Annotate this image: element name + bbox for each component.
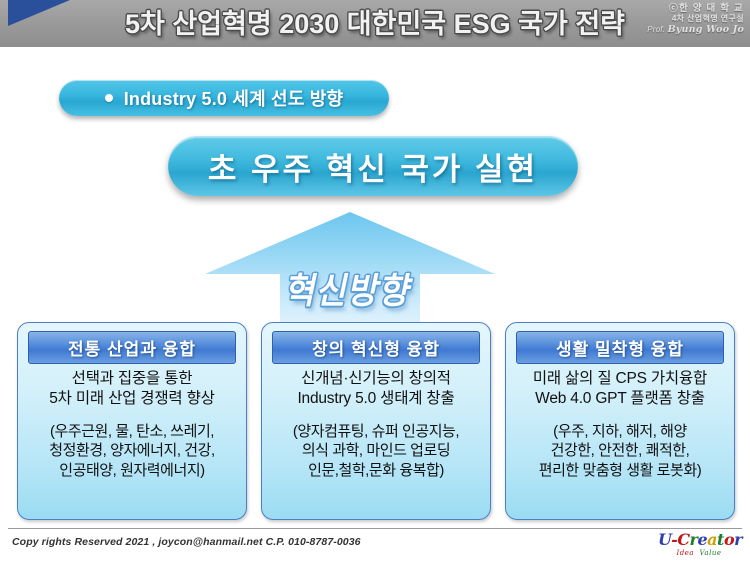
strategy-box-body: 미래 삶의 질 CPS 가치융합 Web 4.0 GPT 플랫폼 창출 (우주,… xyxy=(506,364,734,480)
strategy-box[interactable]: 전통 산업과 융합 선택과 집중을 통한 5차 미래 산업 경쟁력 향상 (우주… xyxy=(17,322,247,520)
strategy-box-body: 신개념·신기능의 창의적 Industry 5.0 생태계 창출 (양자컴퓨팅,… xyxy=(262,364,490,480)
strategy-box-detail: (우주, 지하, 해저, 해양 건강한, 안전한, 쾌적한, 편리한 맞춤형 생… xyxy=(510,422,730,481)
credit-lab: 4차 산업혁명 연구실 xyxy=(639,14,744,23)
credit-university-text: 한 양 대 학 교 xyxy=(679,3,744,14)
footer-divider xyxy=(8,528,742,529)
logo-sub-value: Value xyxy=(700,549,722,557)
logo-char-t: t xyxy=(717,530,724,549)
strategy-box-title: 생활 밀착형 융합 xyxy=(556,335,684,360)
strategy-box-lead: 선택과 집중을 통한 5차 미래 산업 경쟁력 향상 xyxy=(22,369,242,409)
strategy-box-title: 창의 혁신형 융합 xyxy=(312,335,440,360)
page-title: 5차 산업혁명 2030 대한민국 ESG 국가 전략 xyxy=(0,2,750,41)
strategy-box-lead: 신개념·신기능의 창의적 Industry 5.0 생태계 창출 xyxy=(266,369,486,409)
innovation-direction-arrow: 혁신방향 xyxy=(205,212,495,327)
goal-banner[interactable]: 초 우주 혁신 국가 실현 xyxy=(168,136,578,196)
u-creator-logo: U-Creator Idea Value xyxy=(658,532,740,560)
logo-char-a: a xyxy=(707,530,717,549)
u-creator-logo-wordmark: U-Creator xyxy=(658,532,740,548)
strategy-box-lead: 미래 삶의 질 CPS 가치융합 Web 4.0 GPT 플랫폼 창출 xyxy=(510,369,730,409)
logo-char-c: C xyxy=(677,530,689,549)
strategy-box-header: 생활 밀착형 융합 xyxy=(516,331,724,364)
strategy-box-detail: (양자컴퓨팅, 슈퍼 인공지능, 의식 과학, 마인드 업로딩 인문,철학,문화… xyxy=(266,422,486,481)
industry-direction-label: Industry 5.0 세계 선도 방향 xyxy=(124,85,344,111)
footer-copyright: Copy rights Reserved 2021 , joycon@hanma… xyxy=(12,536,361,548)
header-credit-block: ⓒ한 양 대 학 교 4차 산업혁명 연구실 Prof. Byung Woo J… xyxy=(639,3,744,35)
logo-char-r2: r xyxy=(734,530,742,549)
copyright-icon: ⓒ xyxy=(669,3,679,13)
strategy-box-body: 선택과 집중을 통한 5차 미래 산업 경쟁력 향상 (우주근원, 물, 탄소,… xyxy=(18,364,246,480)
strategy-box-header: 전통 산업과 융합 xyxy=(28,331,236,364)
logo-char-o: o xyxy=(724,530,734,549)
industry-direction-badge[interactable]: Industry 5.0 세계 선도 방향 xyxy=(59,80,389,116)
bullet-dot-icon xyxy=(105,94,113,102)
strategy-box[interactable]: 창의 혁신형 융합 신개념·신기능의 창의적 Industry 5.0 생태계 … xyxy=(261,322,491,520)
strategy-box-header: 창의 혁신형 융합 xyxy=(272,331,480,364)
logo-char-e: e xyxy=(697,530,707,549)
header-banner: 5차 산업혁명 2030 대한민국 ESG 국가 전략 ⓒ한 양 대 학 교 4… xyxy=(0,0,750,47)
strategy-box-detail: (우주근원, 물, 탄소, 쓰레기, 청정환경, 양자에너지, 건강, 인공태양… xyxy=(22,422,242,481)
credit-professor-signature: Byung Woo Jo xyxy=(668,24,744,35)
up-arrow-icon xyxy=(205,212,495,327)
strategy-box-title: 전통 산업과 융합 xyxy=(68,335,196,360)
credit-professor-prefix: Prof. xyxy=(647,25,665,34)
goal-banner-label: 초 우주 혁신 국가 실현 xyxy=(208,144,538,189)
logo-char-u: U xyxy=(658,530,671,549)
strategy-box[interactable]: 생활 밀착형 융합 미래 삶의 질 CPS 가치융합 Web 4.0 GPT 플… xyxy=(505,322,735,520)
credit-professor: Prof. Byung Woo Jo xyxy=(639,24,744,35)
credit-university: ⓒ한 양 대 학 교 xyxy=(639,3,744,14)
u-creator-logo-subtitle: Idea Value xyxy=(658,550,740,557)
logo-sub-idea: Idea xyxy=(677,549,695,557)
